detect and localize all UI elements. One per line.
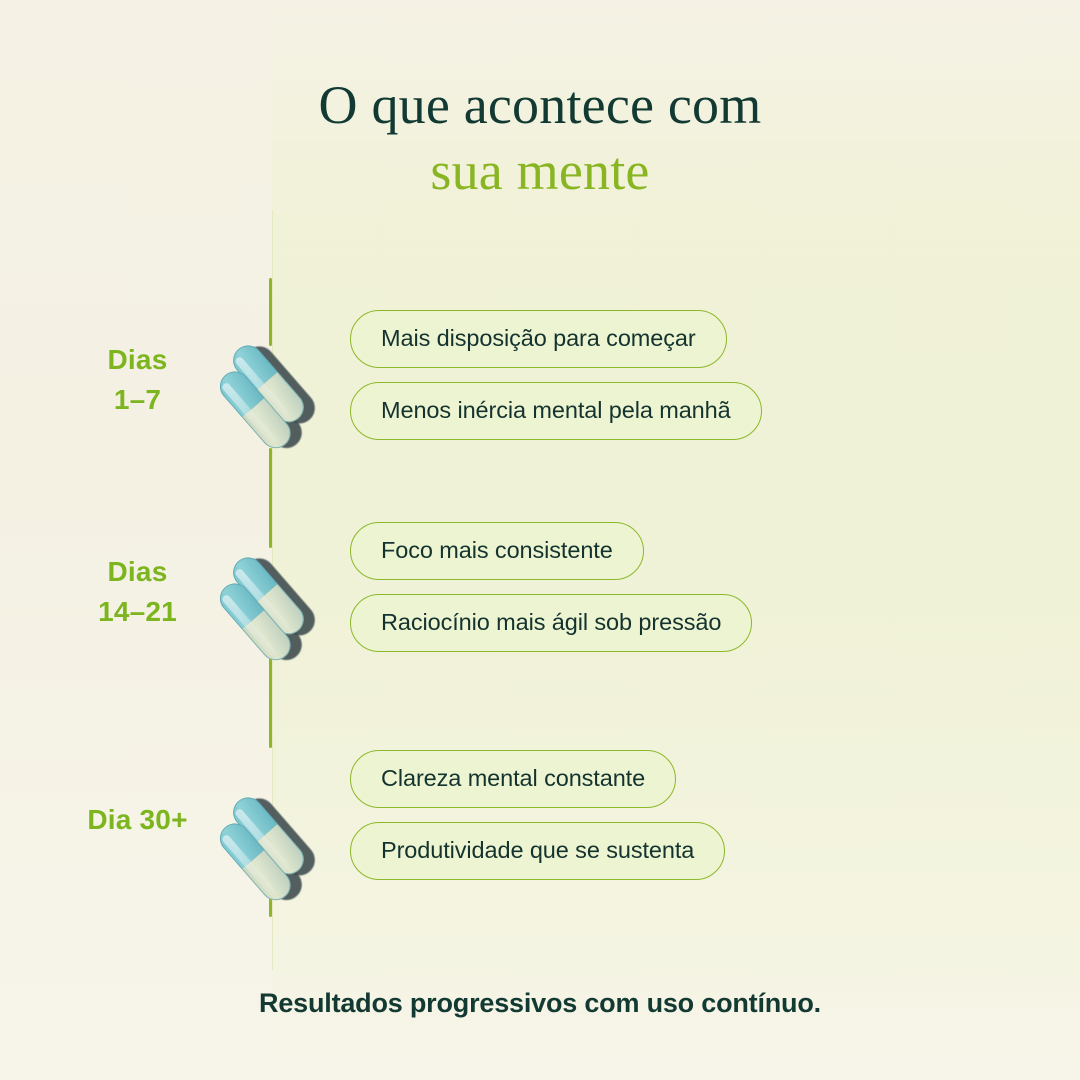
benefit-pill[interactable]: Menos inércia mental pela manhã (350, 382, 762, 440)
capsules-icon (222, 328, 332, 438)
benefit-pill[interactable]: Produtividade que se sustenta (350, 822, 725, 880)
capsules-icon (222, 780, 332, 890)
benefit-pill[interactable]: Clareza mental constante (350, 750, 676, 808)
benefit-pill[interactable]: Foco mais consistente (350, 522, 644, 580)
footer-caption: Resultados progressivos com uso contínuo… (0, 988, 1080, 1019)
infographic-canvas: O que acontece com sua mente Dias 1–7 (0, 0, 1080, 1080)
benefit-list: Clareza mental constante Produtividade q… (350, 750, 725, 894)
timeline-stage: Dias 1–7 Mais disposição para começar Me… (0, 310, 1080, 450)
title-line-2: sua mente (0, 138, 1080, 204)
page-title: O que acontece com sua mente (0, 72, 1080, 204)
title-line-1: O que acontece com (0, 72, 1080, 138)
timeline-stage: Dias 14–21 Foco mais consistente Raciocí… (0, 522, 1080, 662)
benefit-list: Foco mais consistente Raciocínio mais ág… (350, 522, 752, 666)
benefit-pill[interactable]: Raciocínio mais ágil sob pressão (350, 594, 752, 652)
timeline-stage: Dia 30+ Clareza mental constante Produti… (0, 750, 1080, 890)
capsules-icon (222, 540, 332, 650)
benefit-pill[interactable]: Mais disposição para começar (350, 310, 727, 368)
benefit-list: Mais disposição para começar Menos inérc… (350, 310, 762, 454)
